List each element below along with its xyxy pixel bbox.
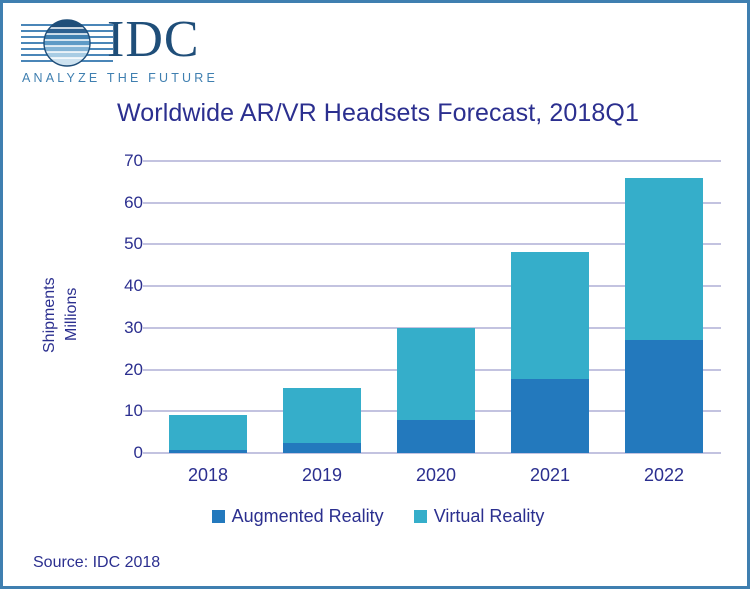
bar-segment-virtual-reality[interactable]: [397, 328, 475, 420]
y-tick-label: 70: [103, 151, 143, 171]
x-tick-label: 2018: [148, 465, 268, 486]
x-tick-label: 2022: [604, 465, 724, 486]
legend-item[interactable]: Virtual Reality: [414, 506, 545, 527]
y-tick-label: 30: [103, 318, 143, 338]
idc-globe-icon: [21, 17, 113, 69]
bar-segment-virtual-reality[interactable]: [511, 252, 589, 380]
bar-segment-augmented-reality[interactable]: [283, 443, 361, 453]
idc-tagline: ANALYZE THE FUTURE: [22, 71, 218, 85]
bar-group[interactable]: [625, 178, 703, 453]
idc-logo: IDC ANALYZE THE FUTURE: [21, 15, 231, 85]
bar-group[interactable]: [397, 328, 475, 453]
y-axis-ticks: 010203040506070: [99, 161, 143, 453]
bar-group[interactable]: [169, 415, 247, 453]
idc-wordmark: IDC: [107, 11, 200, 69]
plot-area: [151, 161, 721, 453]
y-axis-title-line-1: Shipments: [41, 277, 59, 353]
bar-segment-virtual-reality[interactable]: [169, 415, 247, 450]
legend-label: Augmented Reality: [232, 506, 384, 527]
bar-segment-augmented-reality[interactable]: [397, 420, 475, 453]
y-tick-label: 10: [103, 401, 143, 421]
y-tick-label: 60: [103, 193, 143, 213]
bar-segment-virtual-reality[interactable]: [283, 388, 361, 443]
x-tick-label: 2020: [376, 465, 496, 486]
bar-segment-augmented-reality[interactable]: [169, 450, 247, 453]
bar-group[interactable]: [511, 252, 589, 453]
bar-segment-virtual-reality[interactable]: [625, 178, 703, 341]
legend-label: Virtual Reality: [434, 506, 545, 527]
legend-swatch-icon: [212, 510, 225, 523]
source-note: Source: IDC 2018: [33, 554, 160, 572]
gridline: [151, 160, 721, 162]
legend-swatch-icon: [414, 510, 427, 523]
chart-legend: Augmented RealityVirtual Reality: [3, 506, 750, 527]
x-tick-label: 2021: [490, 465, 610, 486]
y-tick-label: 0: [103, 443, 143, 463]
y-axis-title: Shipments Millions: [25, 235, 95, 365]
bar-group[interactable]: [283, 388, 361, 453]
y-tick-label: 40: [103, 276, 143, 296]
chart-page: IDC ANALYZE THE FUTURE Worldwide AR/VR H…: [0, 0, 750, 589]
legend-item[interactable]: Augmented Reality: [212, 506, 384, 527]
bar-segment-augmented-reality[interactable]: [511, 379, 589, 453]
y-axis-title-line-2: Millions: [63, 288, 81, 341]
bar-segment-augmented-reality[interactable]: [625, 340, 703, 453]
y-tick-label: 20: [103, 360, 143, 380]
y-tick-label: 50: [103, 234, 143, 254]
x-tick-label: 2019: [262, 465, 382, 486]
chart-title: Worldwide AR/VR Headsets Forecast, 2018Q…: [3, 99, 750, 128]
